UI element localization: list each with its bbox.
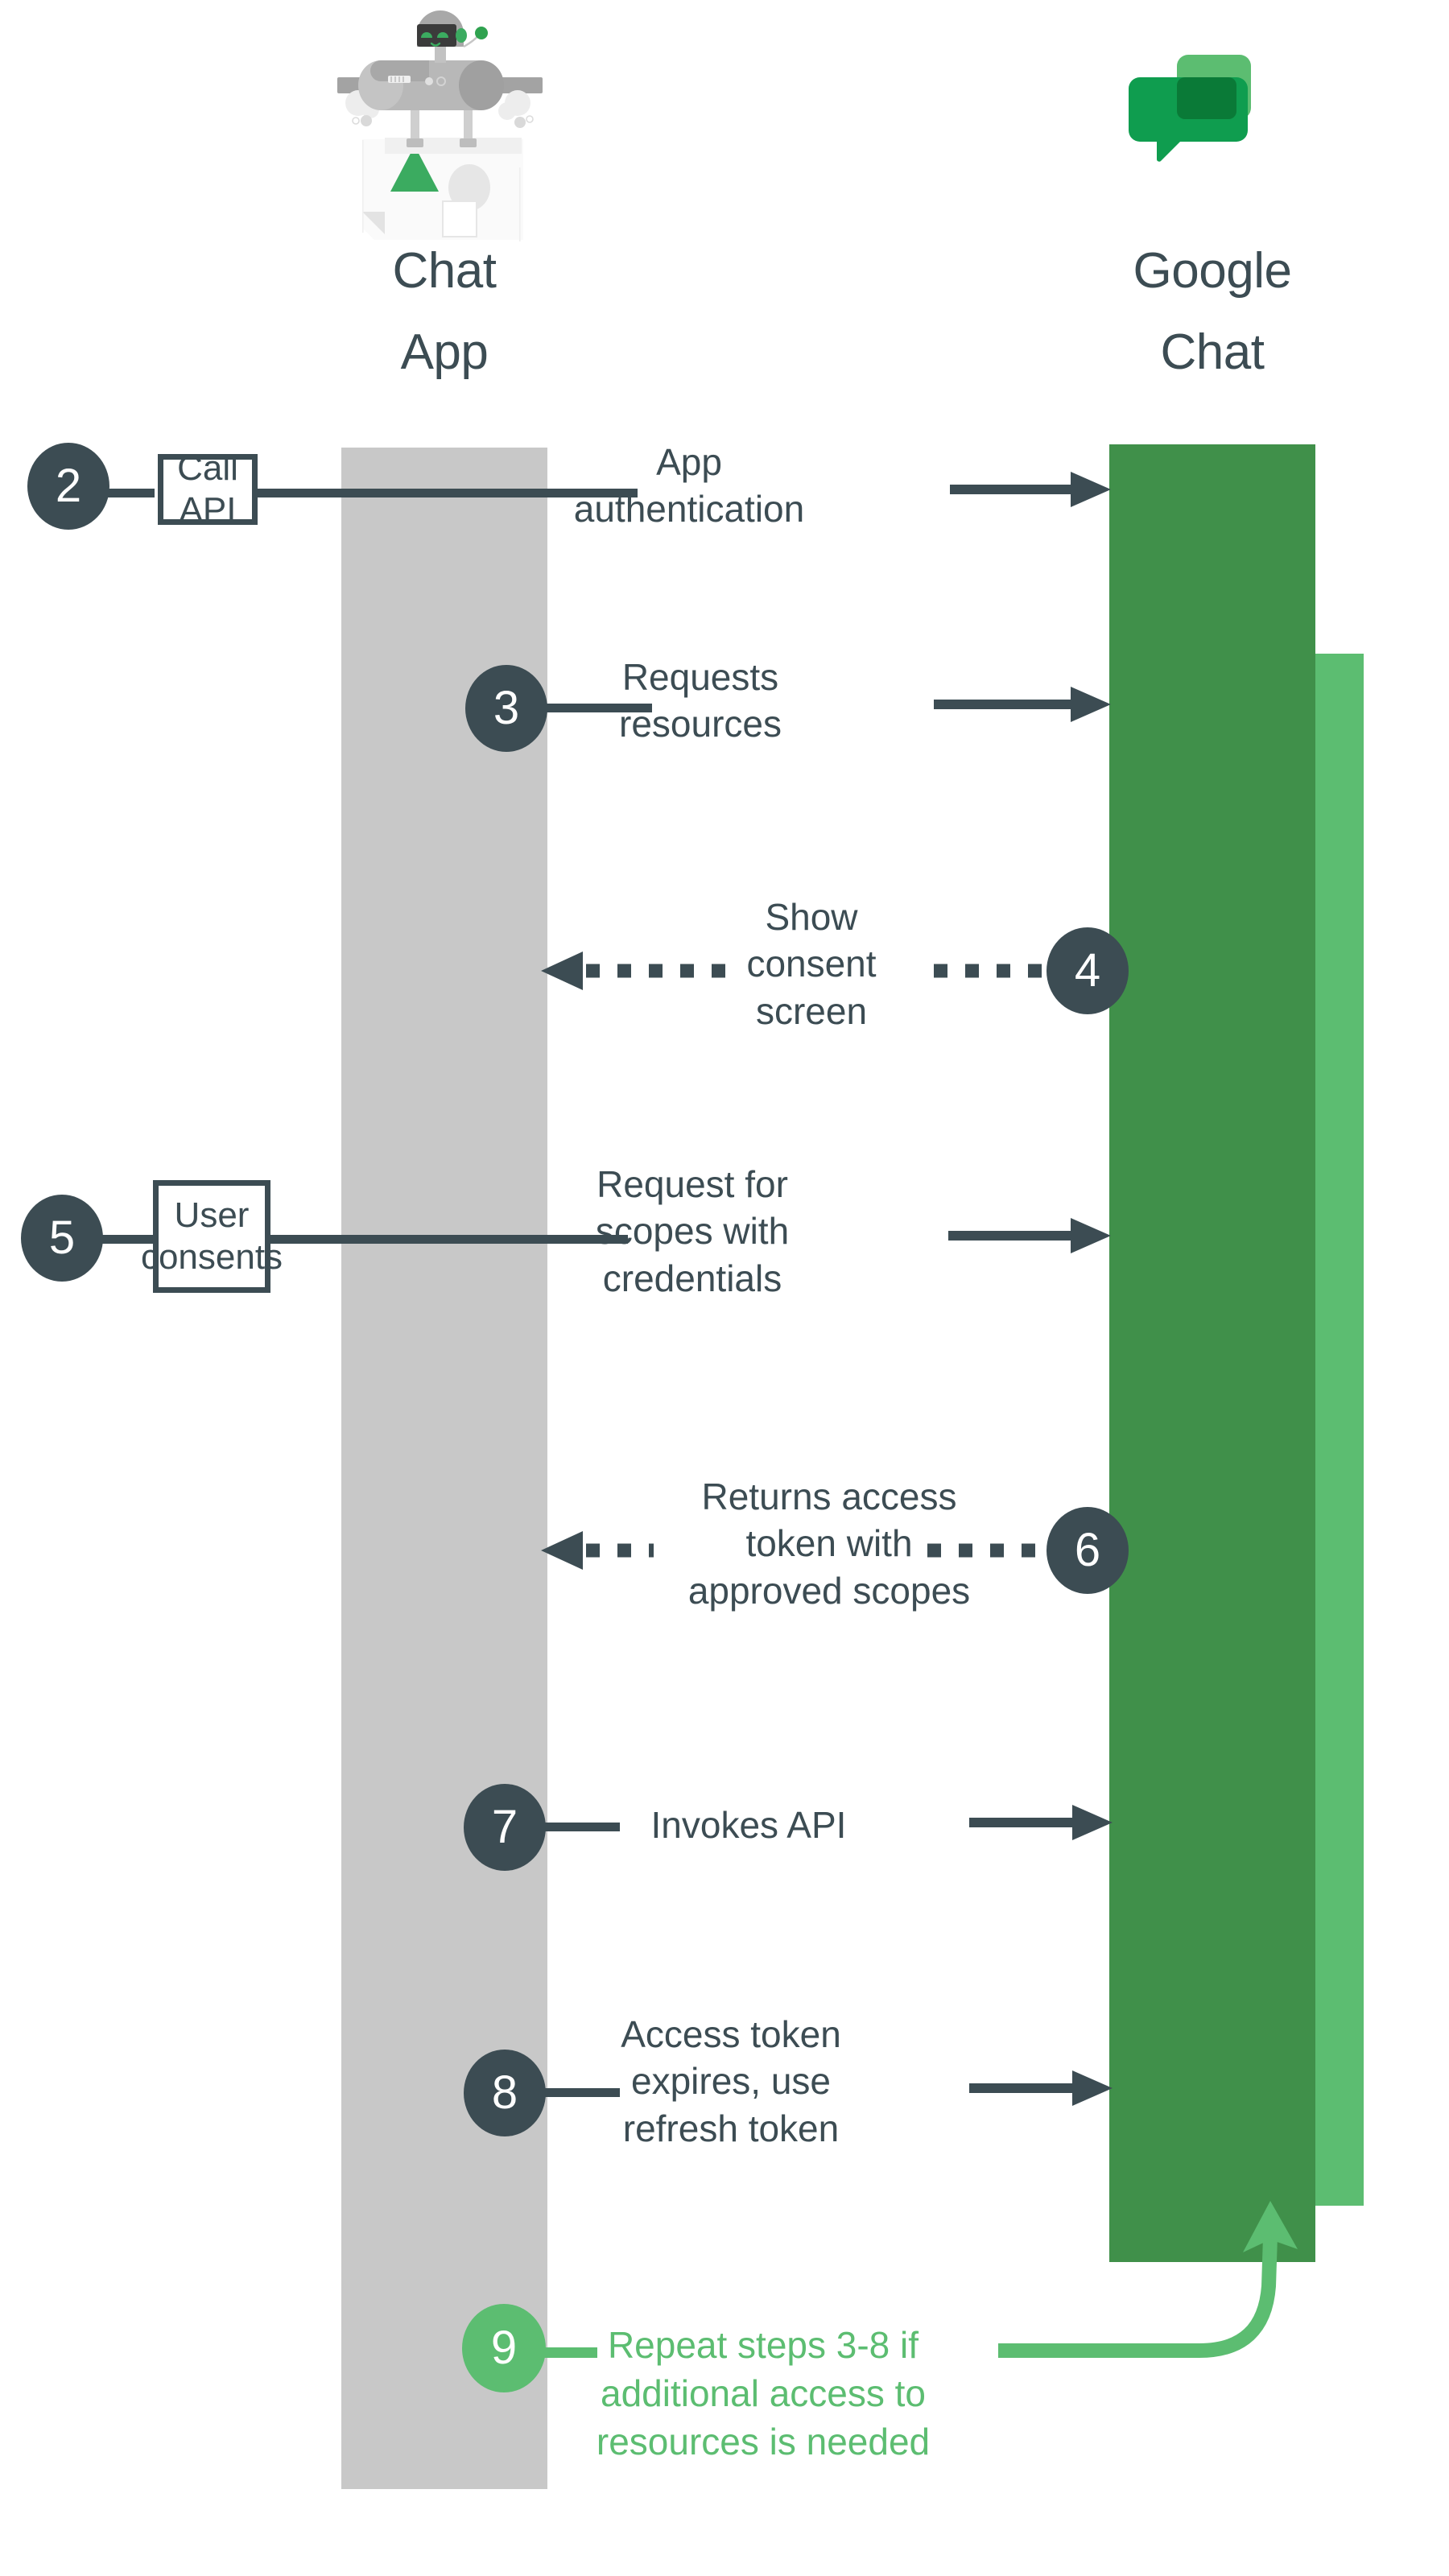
- step-badge-7[interactable]: 7: [464, 1784, 546, 1871]
- step-2-action-box[interactable]: Call API: [158, 454, 258, 525]
- step-2-arrow-right-icon: [950, 465, 1117, 514]
- step-9-repeat-note-line3: resources is needed: [506, 2418, 1021, 2467]
- step-badge-6[interactable]: 6: [1046, 1507, 1129, 1594]
- step-8-arrow-right-icon: [969, 2066, 1119, 2112]
- step-5-action-box[interactable]: User consents: [153, 1180, 270, 1293]
- step-4-message-line1: Show: [683, 894, 940, 940]
- step-4-message-line3: screen: [683, 988, 940, 1034]
- step-6-message-line1: Returns access: [628, 1473, 1030, 1520]
- step-badge-9[interactable]: 9: [462, 2304, 546, 2392]
- step-2-line: [254, 489, 638, 497]
- step-badge-8-number: 8: [492, 2070, 518, 2116]
- actor-label-google-chat: Google Chat: [1046, 242, 1378, 382]
- step-badge-3-number: 3: [493, 685, 519, 732]
- lifeline-google-chat-extra: [1315, 654, 1364, 2206]
- step-5-message-label: Request for scopes with credentials: [515, 1161, 869, 1302]
- step-7-message-label: Invokes API: [580, 1802, 918, 1848]
- step-4-message-label: Show consent screen: [683, 894, 940, 1034]
- step-badge-2[interactable]: 2: [27, 443, 109, 530]
- actor-label-google-chat-line2: Chat: [1046, 323, 1378, 382]
- step-8-message-line1: Access token: [546, 2011, 916, 2058]
- step-5-line: [267, 1235, 628, 1244]
- step-3-line: [533, 704, 652, 712]
- actor-label-google-chat-line1: Google: [1046, 242, 1378, 300]
- step-8-message-line2: expires, use: [546, 2058, 916, 2104]
- step-6-dotted-line-right: [926, 1523, 1063, 1578]
- step-badge-3[interactable]: 3: [465, 665, 547, 752]
- step-badge-4[interactable]: 4: [1046, 927, 1129, 1014]
- step-8-message-line3: refresh token: [546, 2105, 916, 2152]
- step-7-message-line1: Invokes API: [580, 1802, 918, 1848]
- lifeline-chat-app: [341, 448, 547, 2489]
- step-5-action-box-line2: consents: [141, 1236, 283, 1278]
- step-8-message-label: Access token expires, use refresh token: [546, 2011, 916, 2152]
- chat-app-robot-illustration: [314, 6, 549, 242]
- step-2-message-line1: App: [520, 439, 858, 485]
- step-5-message-line2: scopes with: [515, 1207, 869, 1254]
- step-9-loop-arrow-icon: [998, 2190, 1336, 2376]
- actor-label-chat-app-line1: Chat: [282, 242, 607, 300]
- step-9-repeat-note-line2: additional access to: [506, 2370, 1021, 2418]
- step-5-action-box-line1: User: [175, 1195, 250, 1236]
- actor-label-chat-app-line2: App: [282, 323, 607, 382]
- step-badge-4-number: 4: [1075, 947, 1100, 994]
- step-4-dotted-line-right: [932, 943, 1061, 998]
- step-badge-5-number: 5: [49, 1215, 75, 1261]
- google-chat-logo: [1109, 31, 1270, 192]
- step-5-message-line1: Request for: [515, 1161, 869, 1207]
- step-4-message-line2: consent: [683, 940, 940, 987]
- step-2-message-label: App authentication: [520, 439, 858, 533]
- step-2-action-box-label: Call API: [163, 448, 252, 531]
- step-badge-6-number: 6: [1075, 1527, 1100, 1574]
- step-badge-9-number: 9: [491, 2325, 517, 2372]
- step-5-arrow-right-icon: [948, 1212, 1117, 1260]
- step-9-repeat-note-line1: Repeat steps 3-8 if: [506, 2322, 1021, 2370]
- step-badge-8[interactable]: 8: [464, 2050, 546, 2136]
- step-3-message-line1: Requests: [539, 654, 861, 700]
- step-badge-2-number: 2: [56, 463, 81, 510]
- lifeline-google-chat: [1109, 444, 1315, 2262]
- step-badge-5[interactable]: 5: [21, 1195, 103, 1282]
- sequence-diagram: Chat App Google Chat 2 Call API App auth…: [0, 0, 1449, 2576]
- step-badge-7-number: 7: [492, 1804, 518, 1851]
- step-5-message-line3: credentials: [515, 1255, 869, 1302]
- step-3-message-label: Requests resources: [539, 654, 861, 748]
- actor-label-chat-app: Chat App: [282, 242, 607, 382]
- step-7-arrow-right-icon: [969, 1800, 1119, 1847]
- step-9-repeat-note: Repeat steps 3-8 if additional access to…: [506, 2322, 1021, 2466]
- step-3-arrow-right-icon: [934, 680, 1117, 729]
